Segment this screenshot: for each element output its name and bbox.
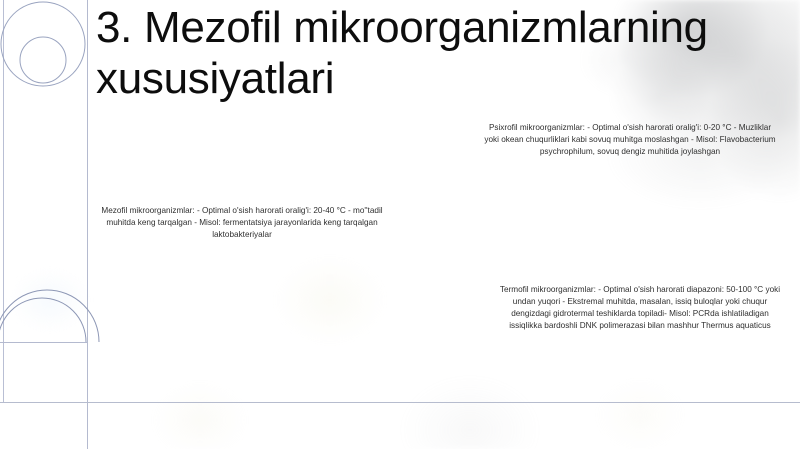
presentation-slide: 3. Mezofil mikroorganizmlarning xususiya…	[0, 0, 800, 449]
small-arc-outline	[0, 298, 86, 342]
large-arc-outline	[0, 290, 99, 342]
text-block-termofil: Termofil mikroorganizmlar: - Optimal o's…	[494, 284, 786, 332]
text-block-mezofil: Mezofil mikroorganizmlar: - Optimal o'si…	[96, 205, 388, 241]
page-title: 3. Mezofil mikroorganizmlarning xususiya…	[96, 2, 788, 104]
text-block-psixrofil: Psixrofil mikroorganizmlar: - Optimal o'…	[484, 122, 776, 158]
small-circle-outline	[20, 37, 66, 83]
large-circle-outline	[1, 2, 85, 86]
